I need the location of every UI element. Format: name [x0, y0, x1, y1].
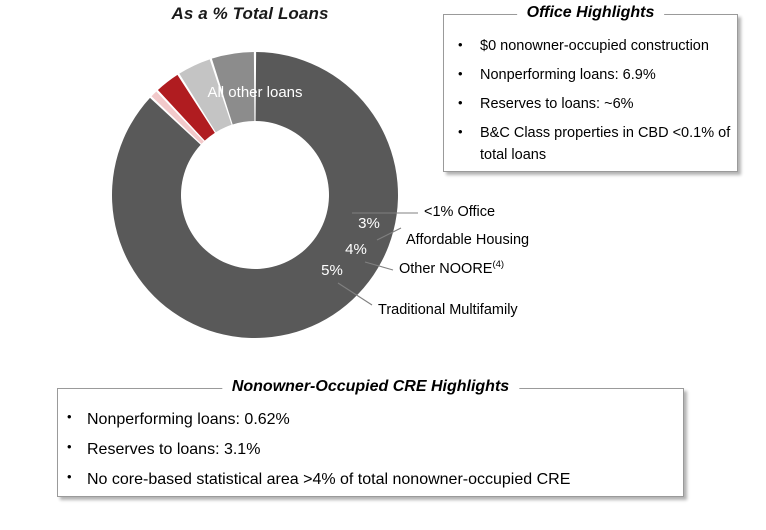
office-highlight-item: •Nonperforming loans: 6.9% [458, 64, 737, 86]
slice-label-office: <1% Office [424, 205, 495, 221]
slice-percent-multifamily: 5% [321, 262, 343, 279]
bullet-icon: • [458, 122, 480, 143]
slice-label-traditional-multifamily: Traditional Multifamily [378, 303, 518, 319]
bullet-icon: • [458, 35, 480, 56]
donut-center-label: All other loans [207, 84, 302, 101]
slice-percent-affordable: 3% [358, 215, 380, 232]
bullet-icon: • [67, 438, 87, 457]
office-highlight-item: •B&C Class properties in CBD <0.1% of to… [458, 122, 737, 166]
office-highlight-item-text: Nonperforming loans: 6.9% [480, 64, 737, 86]
nonowner-cre-highlights-panel: Nonowner-Occupied CRE Highlights •Nonper… [57, 388, 684, 497]
nonowner-highlight-item: •Reserves to loans: 3.1% [67, 438, 683, 461]
nonowner-highlight-item: •Nonperforming loans: 0.62% [67, 408, 683, 431]
office-highlights-panel: Office Highlights •$0 nonowner-occupied … [443, 14, 738, 172]
slice-label-other-noore: Other NOORE(4) [399, 260, 504, 278]
nonowner-cre-highlights-list: •Nonperforming loans: 0.62%•Reserves to … [58, 408, 683, 492]
office-highlight-item-text: Reserves to loans: ~6% [480, 93, 737, 115]
nonowner-highlight-item-text: Nonperforming loans: 0.62% [87, 408, 683, 431]
nonowner-highlight-item-text: Reserves to loans: 3.1% [87, 438, 683, 461]
bullet-icon: • [458, 93, 480, 114]
office-highlights-title: Office Highlights [517, 4, 665, 22]
nonowner-cre-highlights-title: Nonowner-Occupied CRE Highlights [222, 378, 519, 396]
bullet-icon: • [67, 408, 87, 427]
slice-label-other-noore-footnote: (4) [492, 259, 504, 270]
office-highlight-item: •$0 nonowner-occupied construction [458, 35, 737, 57]
bullet-icon: • [67, 468, 87, 487]
nonowner-highlight-item: •No core-based statistical area >4% of t… [67, 468, 683, 491]
nonowner-highlight-item-text: No core-based statistical area >4% of to… [87, 468, 683, 491]
slice-label-other-noore-text: Other NOORE [399, 261, 492, 277]
office-highlight-item: •Reserves to loans: ~6% [458, 93, 737, 115]
bullet-icon: • [458, 64, 480, 85]
office-highlight-item-text: B&C Class properties in CBD <0.1% of tot… [480, 122, 737, 166]
slice-percent-noore: 4% [345, 241, 367, 258]
office-highlight-item-text: $0 nonowner-occupied construction [480, 35, 737, 57]
slice-label-affordable-housing: Affordable Housing [406, 233, 529, 249]
office-highlights-list: •$0 nonowner-occupied construction•Nonpe… [444, 35, 737, 166]
